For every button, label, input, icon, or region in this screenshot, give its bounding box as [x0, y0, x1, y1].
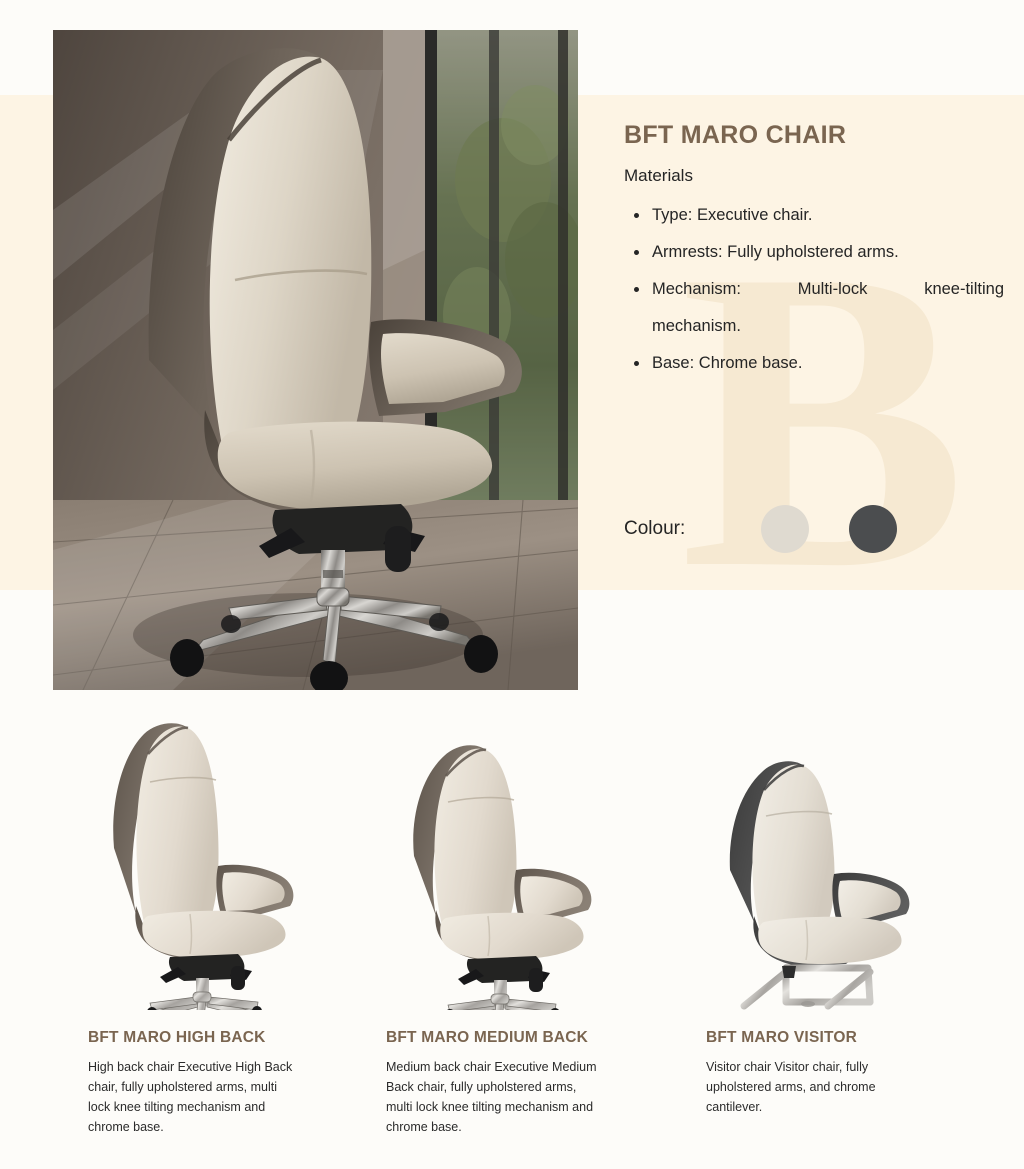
spec-item-mechanism-row: Mechanism: Multi-lock knee-tilting — [652, 271, 1004, 308]
spec-mechanism-label: Mechanism: — [652, 271, 741, 308]
spec-item-type-text: Type: Executive chair. — [652, 206, 813, 224]
spec-item-type: Type: Executive chair. — [624, 197, 1004, 234]
variant-card-high-back[interactable]: BFT MARO HIGH BACK High back chair Execu… — [0, 715, 318, 1137]
spec-item-mechanism: Mechanism: Multi-lock knee-tilting mecha… — [624, 271, 1004, 345]
variant-cards: BFT MARO HIGH BACK High back chair Execu… — [0, 715, 1024, 1137]
materials-label: Materials — [624, 166, 1004, 186]
colour-swatch-cream[interactable] — [761, 505, 809, 553]
page-title: BFT MARO CHAIR — [624, 120, 1004, 150]
variant-title-medium-back: BFT MARO MEDIUM BACK — [386, 1028, 636, 1048]
variant-card-visitor[interactable]: BFT MARO VISITOR Visitor chair Visitor c… — [636, 715, 954, 1137]
hero-product-photo — [53, 30, 578, 690]
variant-card-medium-back[interactable]: BFT MARO MEDIUM BACK Medium back chair E… — [318, 715, 636, 1137]
variant-title-high-back: BFT MARO HIGH BACK — [88, 1028, 318, 1048]
variant-desc-visitor: Visitor chair Visitor chair, fully uphol… — [706, 1057, 886, 1117]
spec-item-armrests-text: Armrests: Fully upholstered arms. — [652, 243, 899, 261]
medium-back-chair-image — [386, 715, 611, 1010]
spec-item-base-text: Base: Chrome base. — [652, 354, 802, 372]
variant-desc-high-back: High back chair Executive High Back chai… — [88, 1057, 293, 1137]
spec-mechanism-value3: mechanism. — [652, 317, 741, 335]
spec-mechanism-value2: knee-tilting — [924, 271, 1004, 308]
spec-item-armrests: Armrests: Fully upholstered arms. — [624, 234, 1004, 271]
materials-list: Type: Executive chair. Armrests: Fully u… — [624, 197, 1004, 382]
variant-desc-medium-back: Medium back chair Executive Medium Back … — [386, 1057, 601, 1137]
colour-selector: Colour: — [624, 505, 937, 553]
high-back-chair-image — [88, 715, 313, 1010]
spec-mechanism-value1: Multi-lock — [798, 271, 868, 308]
colour-swatch-charcoal[interactable] — [849, 505, 897, 553]
spec-item-base: Base: Chrome base. — [624, 345, 1004, 382]
product-sheet-page: B — [0, 0, 1024, 1169]
variant-title-visitor: BFT MARO VISITOR — [706, 1028, 954, 1048]
visitor-chair-image — [706, 715, 931, 1010]
colour-label: Colour: — [624, 518, 685, 540]
product-info: BFT MARO CHAIR Materials Type: Executive… — [624, 120, 1004, 382]
